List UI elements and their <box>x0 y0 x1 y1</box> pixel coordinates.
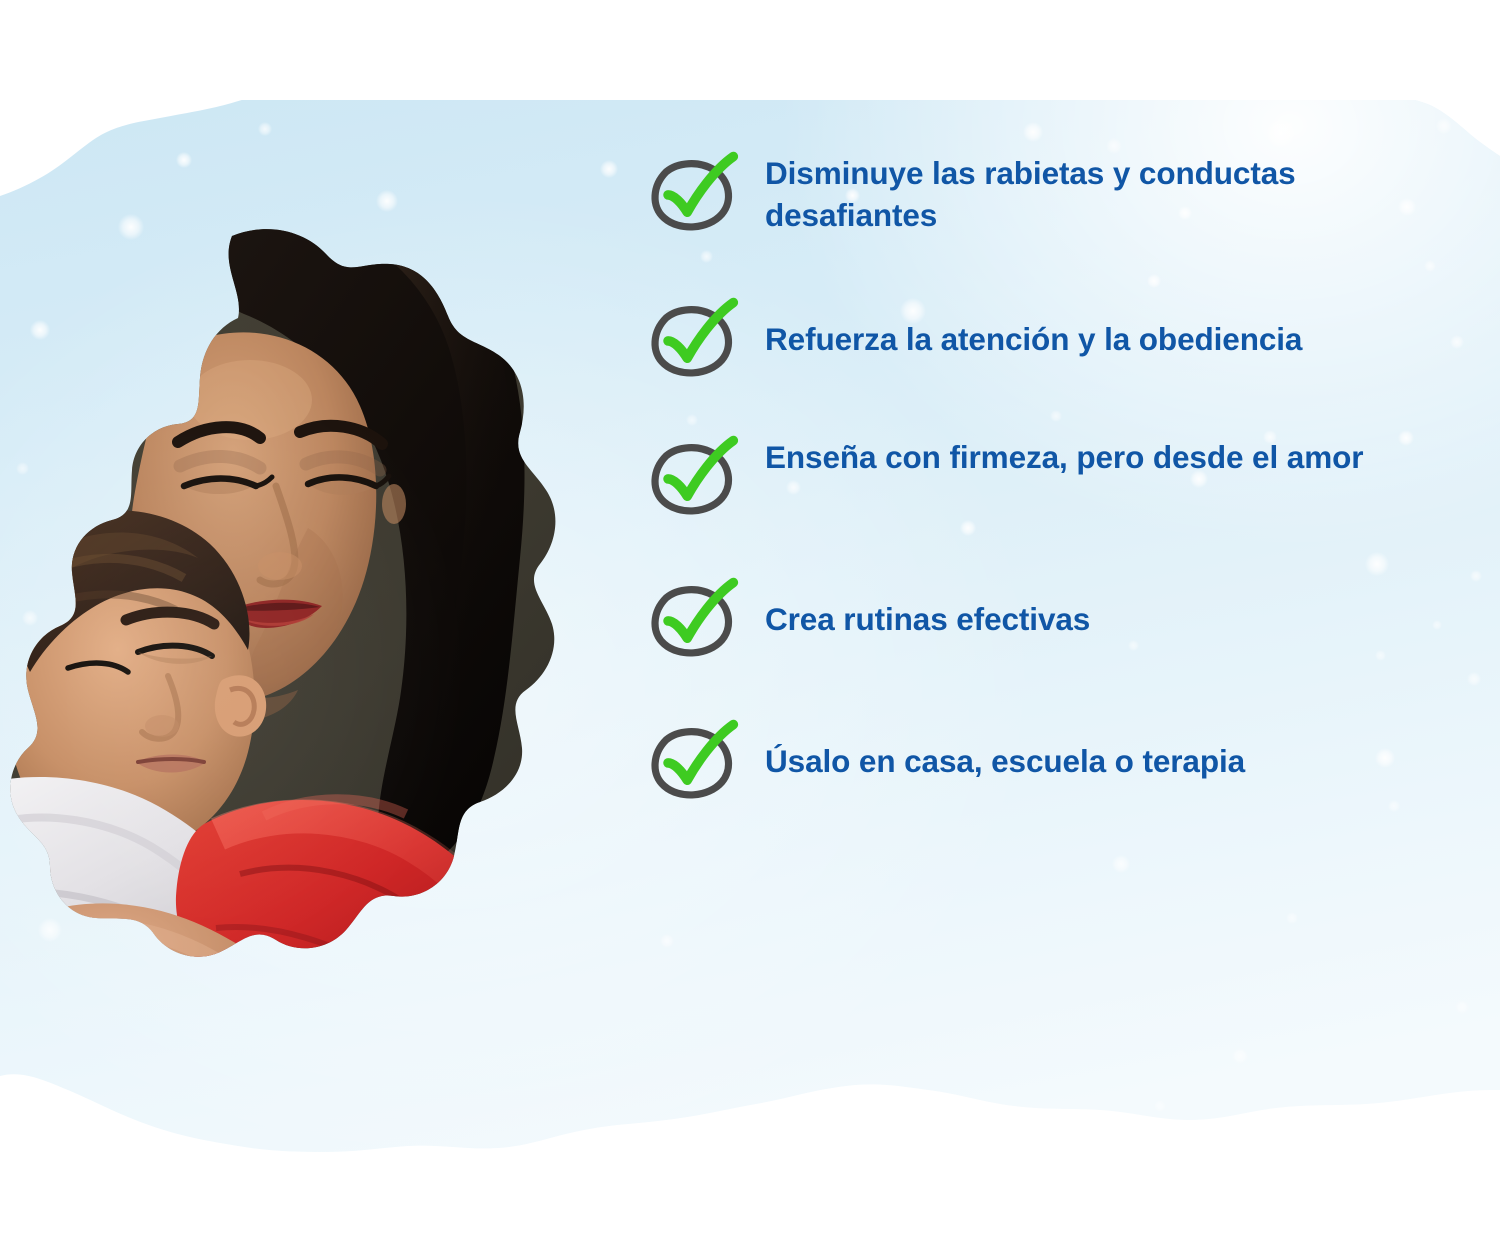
list-item: Crea rutinas efectivas <box>645 569 1445 667</box>
list-item: Enseña con firmeza, pero desde el amor <box>645 427 1445 525</box>
list-item-label: Úsalo en casa, escuela o terapia <box>765 711 1405 783</box>
list-item: Disminuye las rabietas y conductas desaf… <box>645 143 1445 241</box>
list-item: Úsalo en casa, escuela o terapia <box>645 711 1445 809</box>
check-circle-icon <box>645 571 741 667</box>
check-circle-icon <box>645 145 741 241</box>
check-circle-icon <box>645 429 741 525</box>
list-item-label: Refuerza la atención y la obediencia <box>765 289 1405 361</box>
list-item-label: Enseña con firmeza, pero desde el amor <box>765 427 1405 479</box>
promo-graphic: Disminuye las rabietas y conductas desaf… <box>0 0 1500 1250</box>
mother-hugging-child-photo <box>8 228 668 1028</box>
check-circle-icon <box>645 291 741 387</box>
list-item-label: Disminuye las rabietas y conductas desaf… <box>765 143 1405 236</box>
list-item: Refuerza la atención y la obediencia <box>645 289 1445 387</box>
benefits-list: Disminuye las rabietas y conductas desaf… <box>645 143 1445 809</box>
check-circle-icon <box>645 713 741 809</box>
list-item-label: Crea rutinas efectivas <box>765 569 1405 641</box>
